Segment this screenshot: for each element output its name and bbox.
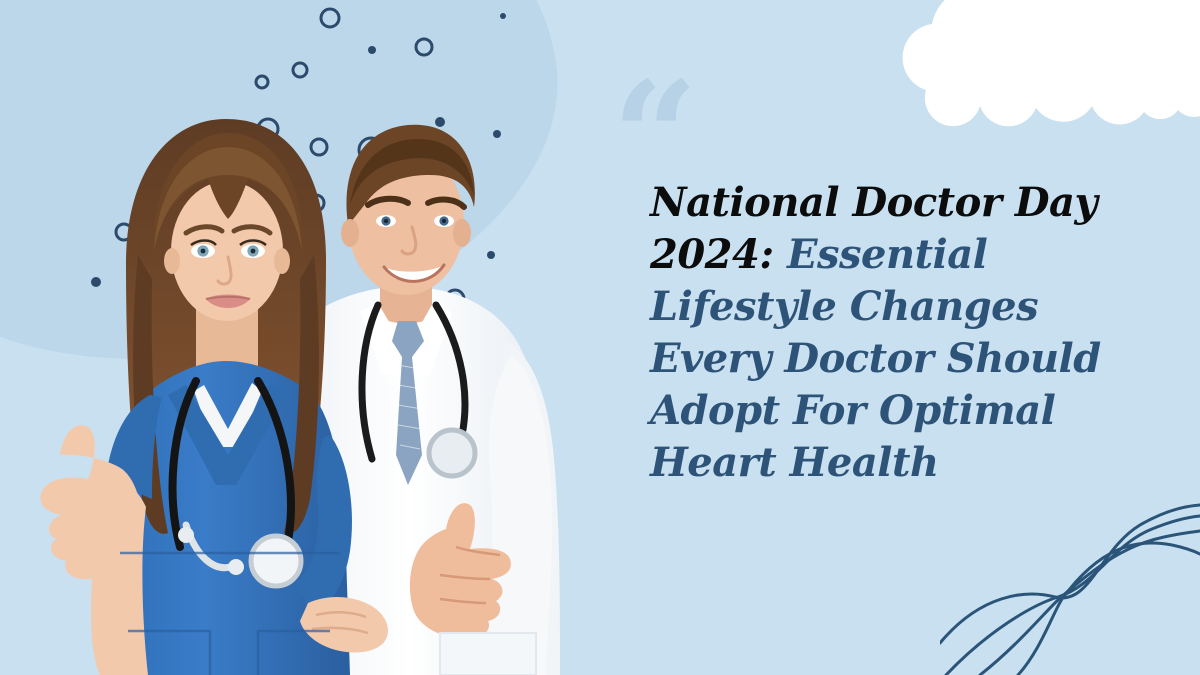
banner-canvas: “ [0, 0, 1200, 675]
page-title: National Doctor Day 2024: Essential Life… [650, 177, 1170, 489]
wave-lines-decoration [940, 475, 1200, 675]
cloud-icon [880, 0, 1200, 140]
doctors-photo [0, 55, 620, 675]
